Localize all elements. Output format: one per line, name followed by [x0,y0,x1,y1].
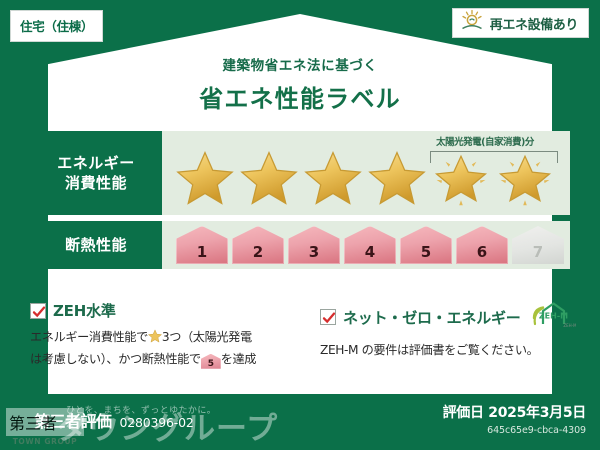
svg-text:ZEH-M: ZEH-M [563,323,576,328]
net-zero-criterion-title: ネット・ゼロ・エネルギー [343,307,521,328]
net-zero-criterion: ネット・ゼロ・エネルギー ZEH-M ZEH-M ZEH-M の要件は評価書をご… [300,300,588,370]
net-zero-criterion-header: ネット・ゼロ・エネルギー ZEH-M ZEH-M [320,300,576,334]
solar-sun-icon [459,9,485,37]
label-footer: 第三者評価 0280396-02 評価日 2025年3月5日 645c65e9-… [0,394,600,450]
housing-type-label: 住宅（住棟） [20,19,93,34]
zeh-criterion-title: ZEH水準 [53,300,116,321]
energy-label-line1: エネルギー [57,153,135,173]
energy-star-solar [430,147,492,209]
energy-star [366,147,428,209]
insulation-grade-badge: 6 [456,226,508,264]
energy-label-line2: 消費性能 [65,173,127,193]
energy-star [174,147,236,209]
housing-type-badge: 住宅（住棟） [10,10,103,42]
footer-left-block: 第三者評価 0280396-02 [34,408,194,432]
insulation-grade-badge: 4 [344,226,396,264]
zeh-criterion: ZEH水準 エネルギー消費性能で3つ（太陽光発電 は考慮しない）、かつ断熱性能で… [30,300,300,370]
net-zero-criterion-body: ZEH-M の要件は評価書をご覧ください。 [320,341,576,361]
energy-star-rating [162,131,570,215]
zeh-body-part2: は考慮しない）、かつ断熱性能で [30,352,201,366]
renewable-equipment-label: 再エネ設備あり [490,14,578,33]
insulation-grade-badge: 2 [232,226,284,264]
third-party-evaluation-label: 第三者評価 [34,408,112,432]
energy-performance-row-label: エネルギー 消費性能 [30,131,162,215]
energy-performance-row: エネルギー 消費性能 太陽光発電(自家消費)分 [30,131,570,215]
zeh-checkbox[interactable] [30,303,46,319]
zeh-m-logo-icon: ZEH-M ZEH-M [530,300,576,334]
label-title-block: 建築物省エネ法に基づく 省エネ性能ラベル [48,54,552,114]
insulation-label-line1: 断熱性能 [65,235,127,255]
energy-star [238,147,300,209]
performance-rows: エネルギー 消費性能 太陽光発電(自家消費)分 [30,131,570,275]
insulation-grade-badge-inactive: 7 [512,226,564,264]
zeh-body-part1: エネルギー消費性能で [30,330,148,344]
criteria-section: ZEH水準 エネルギー消費性能で3つ（太陽光発電 は考慮しない）、かつ断熱性能で… [30,300,570,370]
zeh-body-star-count: 3つ（太陽光発電 [162,330,252,344]
insulation-performance-row: 断熱性能 1 2 3 4 5 6 7 [30,221,570,269]
footer-right-block: 評価日 2025年3月5日 645c65e9-cbca-4309 [443,402,586,436]
evaluation-id: 0280396-02 [120,415,194,430]
insulation-performance-row-body: 1 2 3 4 5 6 7 [162,221,570,269]
renewable-equipment-badge: 再エネ設備あり [452,8,589,38]
label-title: 省エネ性能ラベル [48,79,552,114]
insulation-grade-badge: 3 [288,226,340,264]
zeh-criterion-body: エネルギー消費性能で3つ（太陽光発電 は考慮しない）、かつ断熱性能で5を達成 [30,328,288,370]
label-subtitle: 建築物省エネ法に基づく [48,54,552,74]
energy-star [302,147,364,209]
net-zero-checkbox[interactable] [320,309,336,325]
evaluation-date-value: 2025年3月5日 [488,405,586,421]
insulation-grade-badge: 5 [400,226,452,264]
insulation-grade-inline-badge: 5 [201,354,221,369]
insulation-grade-scale: 1 2 3 4 5 6 7 [162,221,570,269]
energy-performance-label: 住宅（住棟） 再エネ設備あり 建築物省エネ法に基づく 省エネ性能ラベル [0,0,600,450]
zeh-criterion-header: ZEH水準 [30,300,288,321]
svg-text:ZEH-M: ZEH-M [538,312,567,321]
zeh-body-part3: を達成 [221,352,256,366]
energy-star-solar [494,147,556,209]
insulation-performance-row-label: 断熱性能 [30,221,162,269]
star-icon [148,329,162,350]
evaluation-date: 評価日 2025年3月5日 [443,402,586,422]
insulation-grade-badge: 1 [176,226,228,264]
evaluation-hash: 645c65e9-cbca-4309 [443,425,586,436]
evaluation-date-label: 評価日 [443,405,484,421]
energy-performance-row-body: 太陽光発電(自家消費)分 [162,131,570,215]
